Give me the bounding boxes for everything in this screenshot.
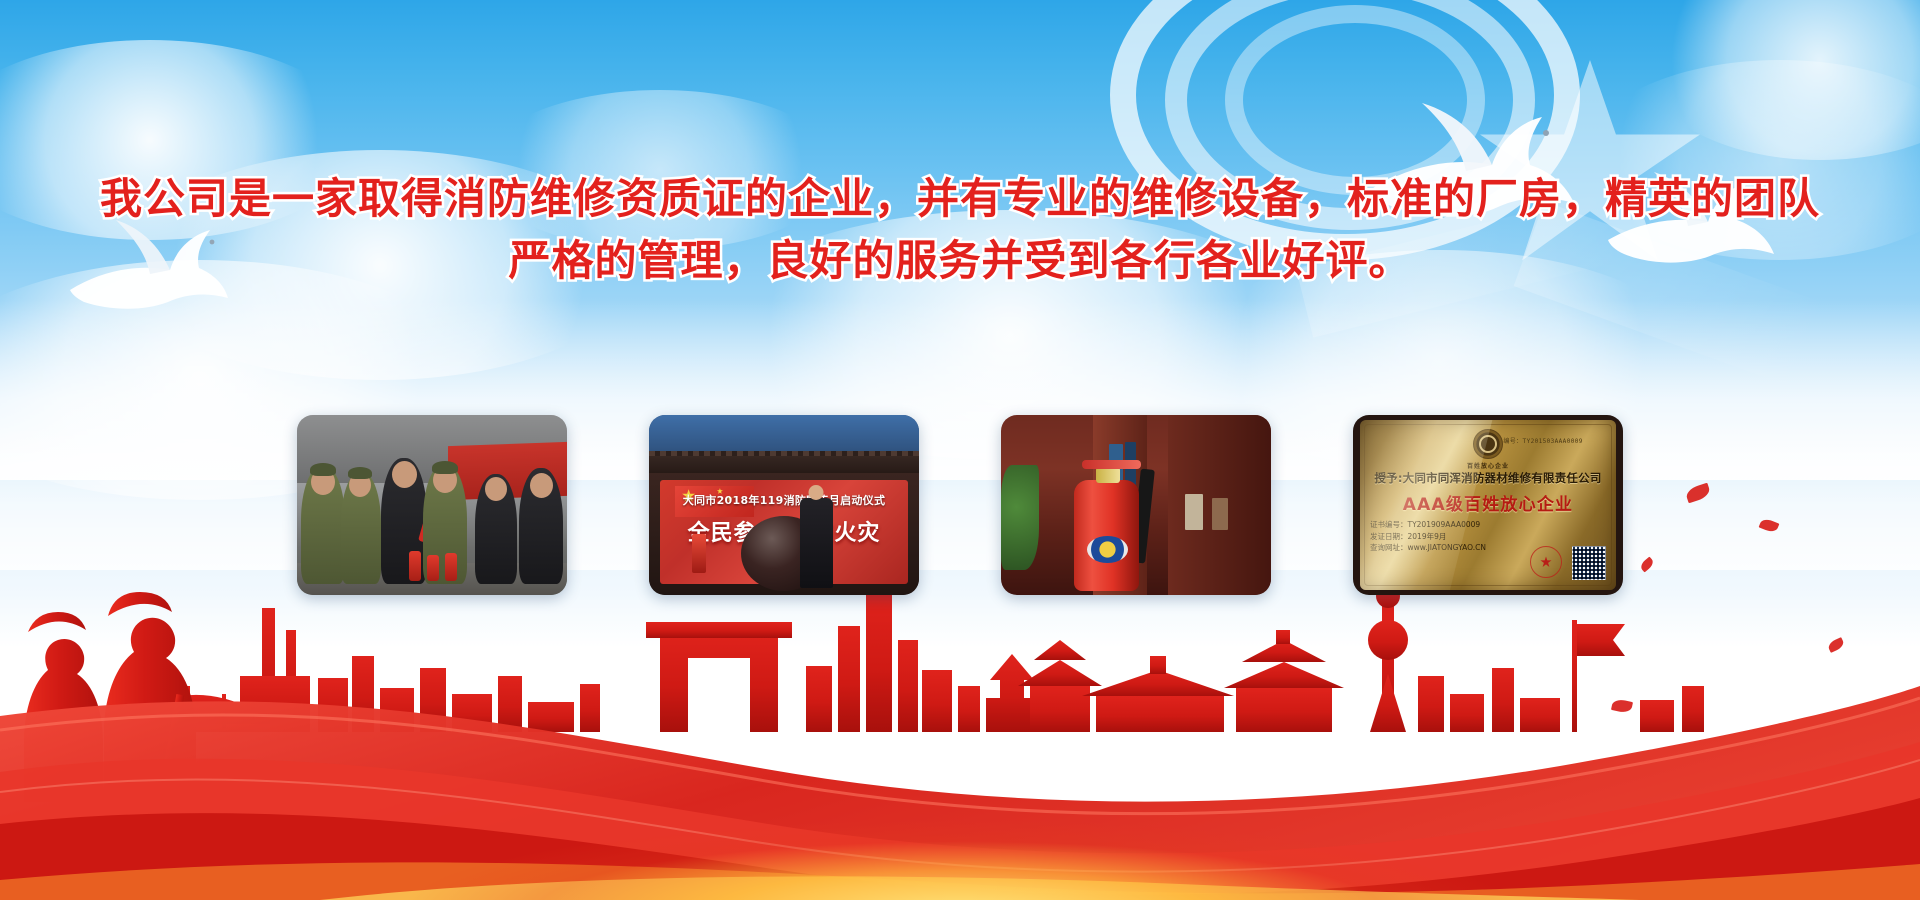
headline-block: 我公司是一家取得消防维修资质证的企业，并有专业的维修设备，标准的厂房，精英的团队… [0, 168, 1920, 292]
plaque-red-stamp-icon [1530, 546, 1562, 578]
aaa-plaque: 百姓放心企业 编号：TY201503AAA0009 授予:大同市同浑消防器材维修… [1360, 420, 1616, 590]
photo-strip: 领导检查消防器材现场 大同市2018年119消防宣传月启动仪式 全民参与 共防火… [0, 415, 1920, 600]
swirl-cloud-decor [1225, 5, 1485, 195]
swirl-cloud-core [1640, 0, 1920, 160]
ceremony-banner-line-1: 大同市2018年119消防宣传月启动仪式 [660, 492, 908, 508]
photo-aaa-plaque[interactable]: 百姓放心企业 编号：TY201503AAA0009 授予:大同市同浑消防器材维修… [1353, 415, 1623, 595]
photo3-plant-icon [1001, 465, 1039, 569]
headline-line-1: 我公司是一家取得消防维修资质证的企业，并有专业的维修设备，标准的厂房，精英的团队 [0, 168, 1920, 230]
photo1-head [530, 473, 553, 498]
photo-fire-extinguisher[interactable]: 店内手提式干粉灭火器 [1001, 415, 1271, 595]
fire-extinguisher-icon [427, 555, 439, 581]
extinguisher-valve-icon [1096, 467, 1120, 483]
photo1-cap-icon [432, 461, 458, 474]
stamp-star-icon [1541, 557, 1552, 568]
photo1-head [485, 477, 507, 501]
headline-line-2: 严格的管理，良好的服务并受到各行各业好评。 [0, 230, 1920, 292]
photo-119-ceremony[interactable]: 大同市2018年119消防宣传月启动仪式 全民参与 共防火灾 119消防宣传月启… [649, 415, 919, 595]
fire-extinguisher-icon [445, 553, 457, 581]
photo2-speaker-person [800, 498, 832, 588]
extinguisher-handle-icon [1082, 460, 1141, 469]
plaque-qr-code-icon [1572, 546, 1606, 580]
photo3-book [1185, 494, 1204, 530]
extinguisher-label-icon [1087, 536, 1128, 563]
promo-banner: 我公司是一家取得消防维修资质证的企业，并有专业的维修设备，标准的厂房，精英的团队… [0, 0, 1920, 900]
plaque-serial-top: 编号：TY201503AAA0009 [1503, 436, 1582, 445]
photo1-cap-icon [348, 467, 372, 479]
photo-officials-inspection[interactable]: 领导检查消防器材现场 [297, 415, 567, 595]
photo1-head [392, 461, 417, 488]
fire-extinguisher-icon [409, 551, 421, 581]
photo3-book [1212, 498, 1228, 530]
photo1-cap-icon [310, 463, 336, 476]
photo2-speaker-head [809, 485, 824, 500]
fire-extinguisher-icon [692, 534, 706, 574]
